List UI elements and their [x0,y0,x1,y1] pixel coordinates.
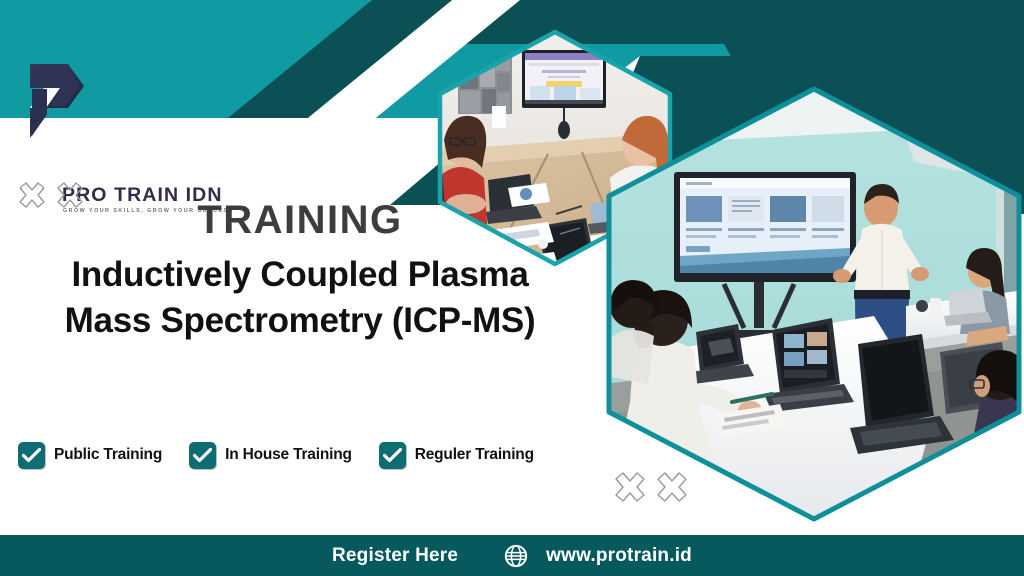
checkbox-checked-icon[interactable] [18,442,45,469]
checkbox-checked-icon[interactable] [189,442,216,469]
footer-bar: Register Here www.protrain.id [0,535,1024,576]
protrain-monogram-icon [16,62,88,140]
training-type-label: Reguler Training [415,446,534,464]
website-url[interactable]: www.protrain.id [546,545,692,567]
training-type-public[interactable]: Public Training [18,442,162,469]
training-types-list: Public Training In House Training Regule… [18,435,618,475]
title-line-2: Mass Spectrometry (ICP-MS) [0,298,600,344]
title-line-1: Inductively Coupled Plasma [0,252,600,298]
poster-canvas: PRO TRAIN IDN GROW YOUR SKILLS, GROW YOU… [0,0,1024,576]
headline-block: TRAINING Inductively Coupled Plasma Mass… [0,200,600,344]
training-type-in-house[interactable]: In House Training [189,442,352,469]
hexagon-photo-main [604,84,1024,524]
page-title: Inductively Coupled Plasma Mass Spectrom… [0,252,600,344]
training-type-reguler[interactable]: Reguler Training [379,442,534,469]
register-here-cta[interactable]: Register Here [332,545,458,567]
training-type-label: Public Training [54,446,162,464]
checkbox-checked-icon[interactable] [379,442,406,469]
kicker-training: TRAINING [0,200,600,240]
globe-icon [504,544,528,568]
training-type-label: In House Training [225,446,352,464]
brand-logo[interactable]: PRO TRAIN IDN GROW YOUR SKILLS, GROW YOU… [16,62,231,162]
